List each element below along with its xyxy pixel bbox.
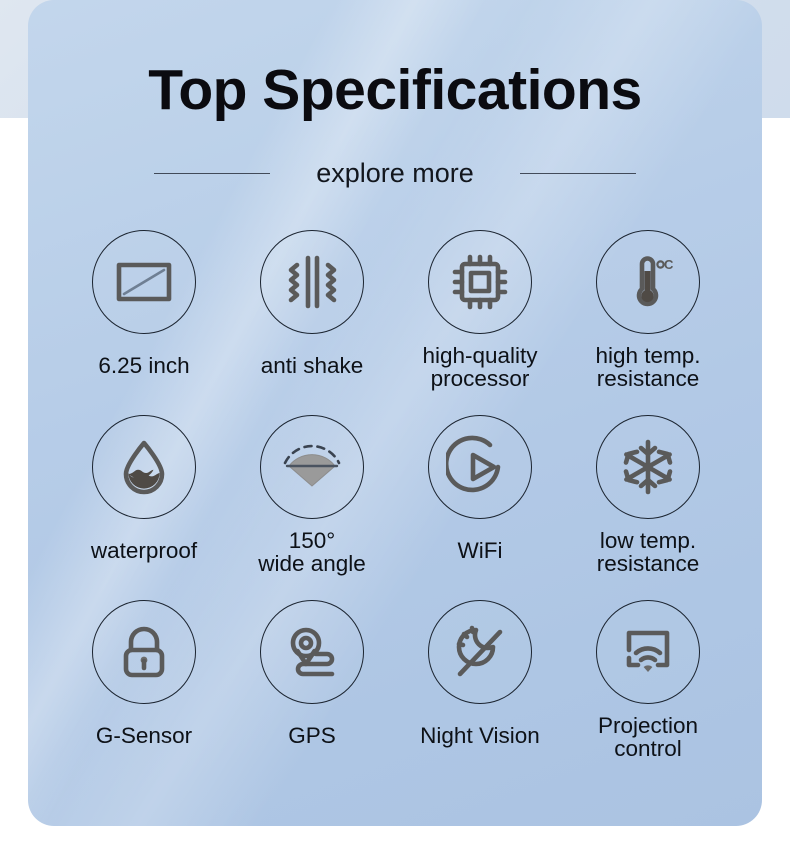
icon-circle [428,600,532,704]
feature-label: 150° wide angle [258,529,366,576]
feature-item-anti-shake[interactable]: anti shake [228,230,396,415]
wifi-play-icon [446,433,514,501]
divider-right [520,173,636,174]
icon-circle [260,415,364,519]
feature-item-screen[interactable]: 6.25 inch [60,230,228,415]
feature-label: WiFi [458,539,503,562]
card-inner: Top Specifications explore more 6.25 inc… [28,0,762,826]
feature-item-wide-angle[interactable]: 150° wide angle [228,415,396,600]
icon-circle [260,600,364,704]
icon-circle [260,230,364,334]
icon-circle [596,415,700,519]
feature-label: high-quality processor [422,344,537,391]
icon-circle: C [596,230,700,334]
feature-item-high-temp[interactable]: C high temp. resistance [564,230,732,415]
anti-shake-icon [279,249,345,315]
feature-label: Night Vision [420,724,540,747]
feature-item-low-temp[interactable]: low temp. resistance [564,415,732,600]
lock-icon [112,620,176,684]
cpu-chip-icon [447,249,513,315]
thermometer-icon: C [615,249,681,315]
icon-circle [428,415,532,519]
gps-pin-road-icon [280,620,344,684]
specifications-card: Top Specifications explore more 6.25 inc… [28,0,762,826]
feature-label: waterproof [91,539,197,562]
feature-label: low temp. resistance [597,529,700,576]
divider-left [154,173,270,174]
feature-grid: 6.25 inch anti shake [60,230,732,785]
wide-angle-icon [277,432,347,502]
icon-circle [92,415,196,519]
feature-label: G-Sensor [96,724,192,747]
feature-item-night-vision[interactable]: Night Vision [396,600,564,785]
page-title: Top Specifications [28,62,762,119]
feature-label: GPS [288,724,336,747]
feature-item-wifi[interactable]: WiFi [396,415,564,600]
feature-item-processor[interactable]: high-quality processor [396,230,564,415]
feature-label: Projection control [598,714,698,761]
night-vision-moon-icon [448,620,512,684]
feature-item-g-sensor[interactable]: G-Sensor [60,600,228,785]
water-drop-icon [111,434,177,500]
feature-item-gps[interactable]: GPS [228,600,396,785]
feature-label: 6.25 inch [98,354,189,377]
screen-cast-icon [615,619,681,685]
icon-circle [428,230,532,334]
screen-icon [111,249,177,315]
subtitle-row: explore more [28,160,762,187]
feature-item-waterproof[interactable]: waterproof [60,415,228,600]
subtitle-text: explore more [316,160,474,187]
svg-text:C: C [664,257,674,272]
feature-item-projection-control[interactable]: Projection control [564,600,732,785]
snowflake-icon [617,436,679,498]
icon-circle [596,600,700,704]
feature-label: anti shake [261,354,364,377]
feature-label: high temp. resistance [595,344,700,391]
icon-circle [92,230,196,334]
icon-circle [92,600,196,704]
